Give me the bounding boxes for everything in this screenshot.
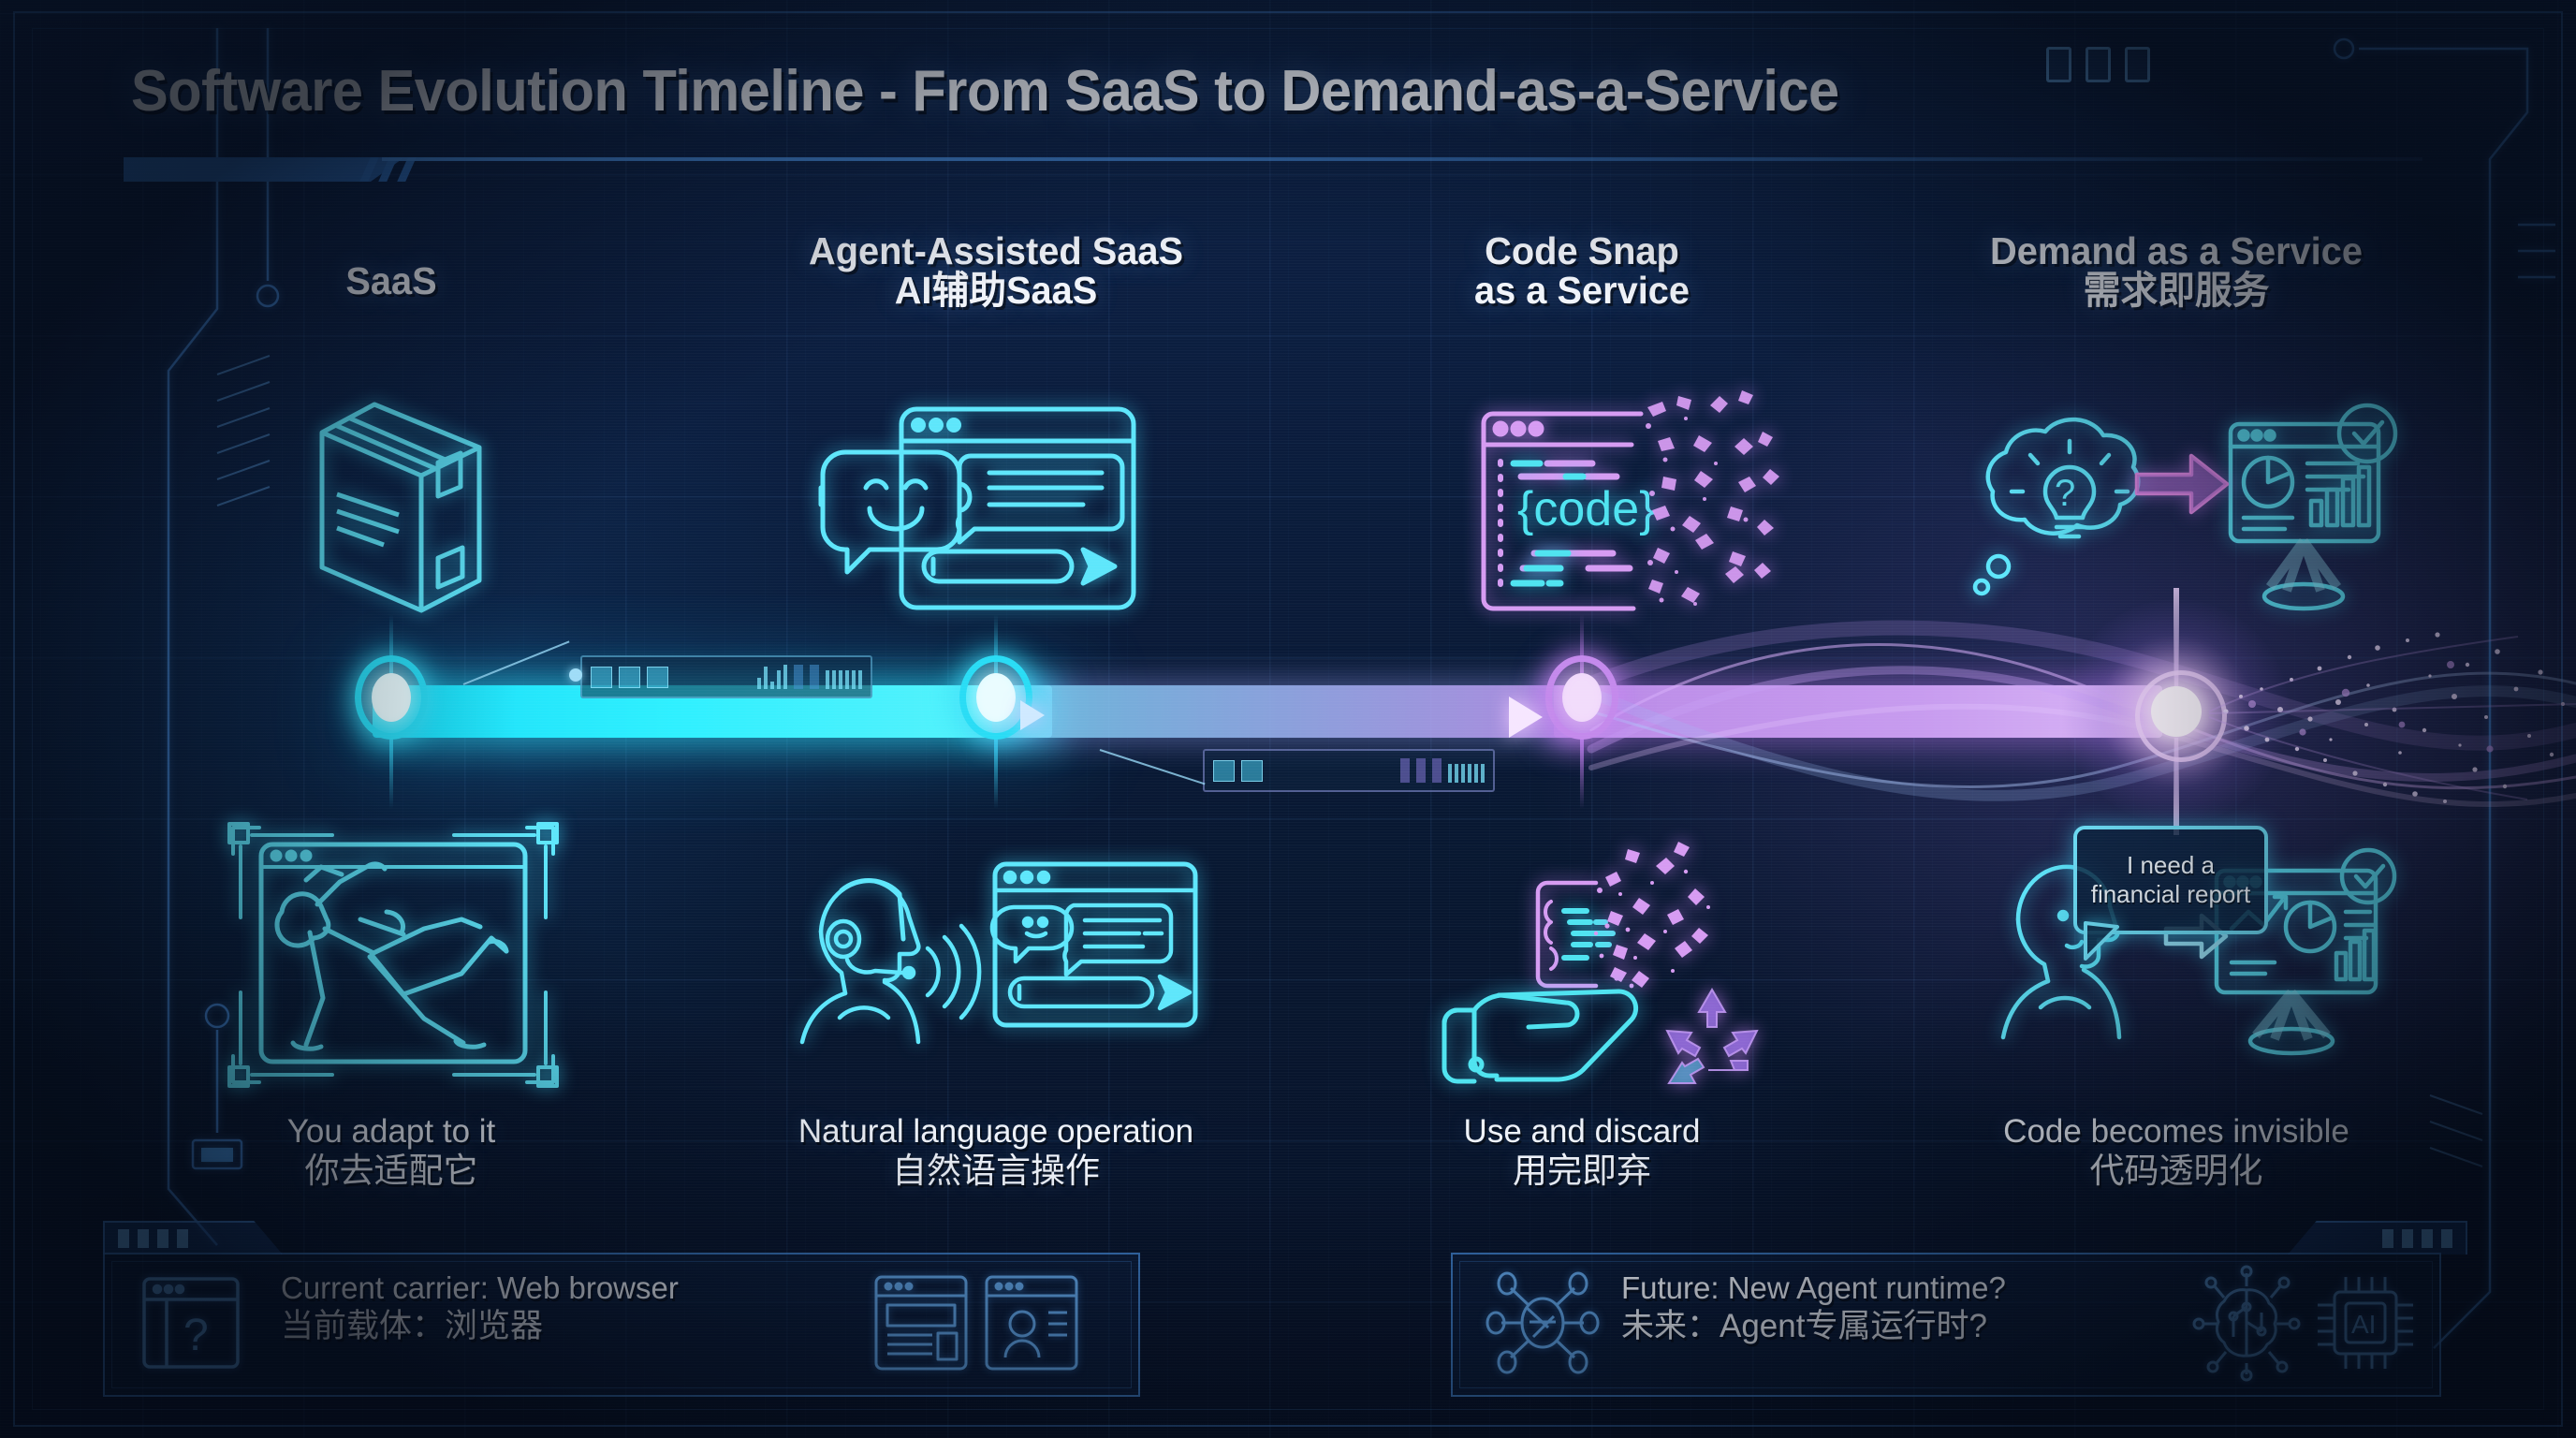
footer-left-text: Current carrier: Web browser 当前载体：浏览器 [281,1269,679,1347]
timeline-stem-1b [389,738,393,809]
status-chip-3 [2125,47,2150,82]
stage-caption-agent-assisted-saas: Natural language operation 自然语言操作 [798,1112,1193,1192]
speech-bubble-tail [2080,921,2136,964]
tab-led [118,1229,129,1248]
hud-block [810,665,819,689]
timeline-arrow-1 [1020,700,1045,730]
status-chip-2 [2086,47,2111,82]
node-ring [355,655,428,740]
hud-block [1416,758,1426,783]
node-ring [1545,655,1618,740]
tab-led [138,1229,149,1248]
stage-caption-code-snap: Use and discard 用完即弃 [1464,1112,1701,1192]
svg-text:?: ? [2055,473,2075,514]
speech-bubble: I need a financial report [2073,826,2268,934]
timeline-node-saas[interactable] [355,655,428,740]
svg-text:?: ? [183,1311,209,1360]
tab-led [2382,1229,2393,1248]
dissolving-code-window-icon: {code} [1465,379,1858,641]
footer-right-tab [2288,1221,2467,1255]
footer-right-text: Future: New Agent runtime? 未来：Agent专属运行时… [1621,1269,2006,1347]
tab-led [2402,1229,2413,1248]
tab-led [177,1229,188,1248]
hud-block [794,665,803,689]
timeline-arrow-2 [1509,697,1543,738]
chat-assistant-window-icon [800,398,1147,623]
browser-question-icon: ? [139,1273,243,1372]
hud-strip-1 [580,655,872,698]
transition-arrow-icon [2137,456,2227,512]
hud-square [1213,760,1235,782]
hud-square [647,667,668,688]
hud-square [591,667,612,688]
page-title: Software Evolution Timeline - From SaaS … [131,58,1839,125]
hud-ticks [1448,758,1485,783]
hud-ticks [826,665,862,689]
person-contorted-in-browser-icon [220,814,566,1095]
speech-bubble-line-1: I need a [2127,851,2215,880]
timeline-stem-3b [1580,738,1584,809]
tab-led [2441,1229,2452,1248]
timeline-segment-transition [992,685,1573,738]
headset-person-voice-chat-icon [763,829,1203,1086]
timeline-stem-2b [994,738,998,809]
tab-led [157,1229,168,1248]
stage-heading-demand-as-a-service: Demand as a Service 需求即服务 [1990,232,2363,311]
title-rule-line [382,157,2422,161]
stage-caption-demand-as-a-service: Code becomes invisible 代码透明化 [2003,1112,2349,1192]
code-label: {code} [1517,482,1656,536]
tab-led [2422,1229,2433,1248]
code-fragments [1646,390,1779,606]
speech-bubble-line-2: financial report [2091,880,2251,909]
ai-chip-icon: AI [2310,1266,2421,1380]
footer-left-tab [103,1221,283,1255]
hud-bars [757,665,787,689]
browser-layout-icon [871,1271,972,1374]
hud-strip-2 [1203,749,1495,792]
stage-heading-code-snap: Code Snap as a Service [1474,232,1690,311]
stage-heading-saas: SaaS [345,262,436,301]
hud-leader-dot-1 [569,668,582,682]
hud-block [1400,758,1410,783]
stage-caption-saas: You adapt to it 你去适配它 [287,1112,496,1192]
network-nodes-icon [1485,1266,1601,1380]
recycle-icon [1667,990,1757,1083]
status-chip-1 [2046,47,2071,82]
infographic-canvas: Software Evolution Timeline - From SaaS … [0,0,2576,1438]
browser-profile-icon [981,1271,1082,1374]
timeline-node-code-snap[interactable] [1545,655,1618,740]
brain-circuit-icon [2190,1266,2303,1380]
software-box-icon [281,393,515,627]
hud-block [1432,758,1442,783]
code-fragments [1594,842,1710,988]
hud-square [1241,760,1263,782]
stage-heading-agent-assisted-saas: Agent-Assisted SaaS AI辅助SaaS [809,232,1183,311]
hand-holding-dissolving-code-icon [1427,829,1802,1100]
burst-core [2151,686,2202,737]
svg-text:AI: AI [2351,1310,2376,1339]
hud-square [619,667,640,688]
